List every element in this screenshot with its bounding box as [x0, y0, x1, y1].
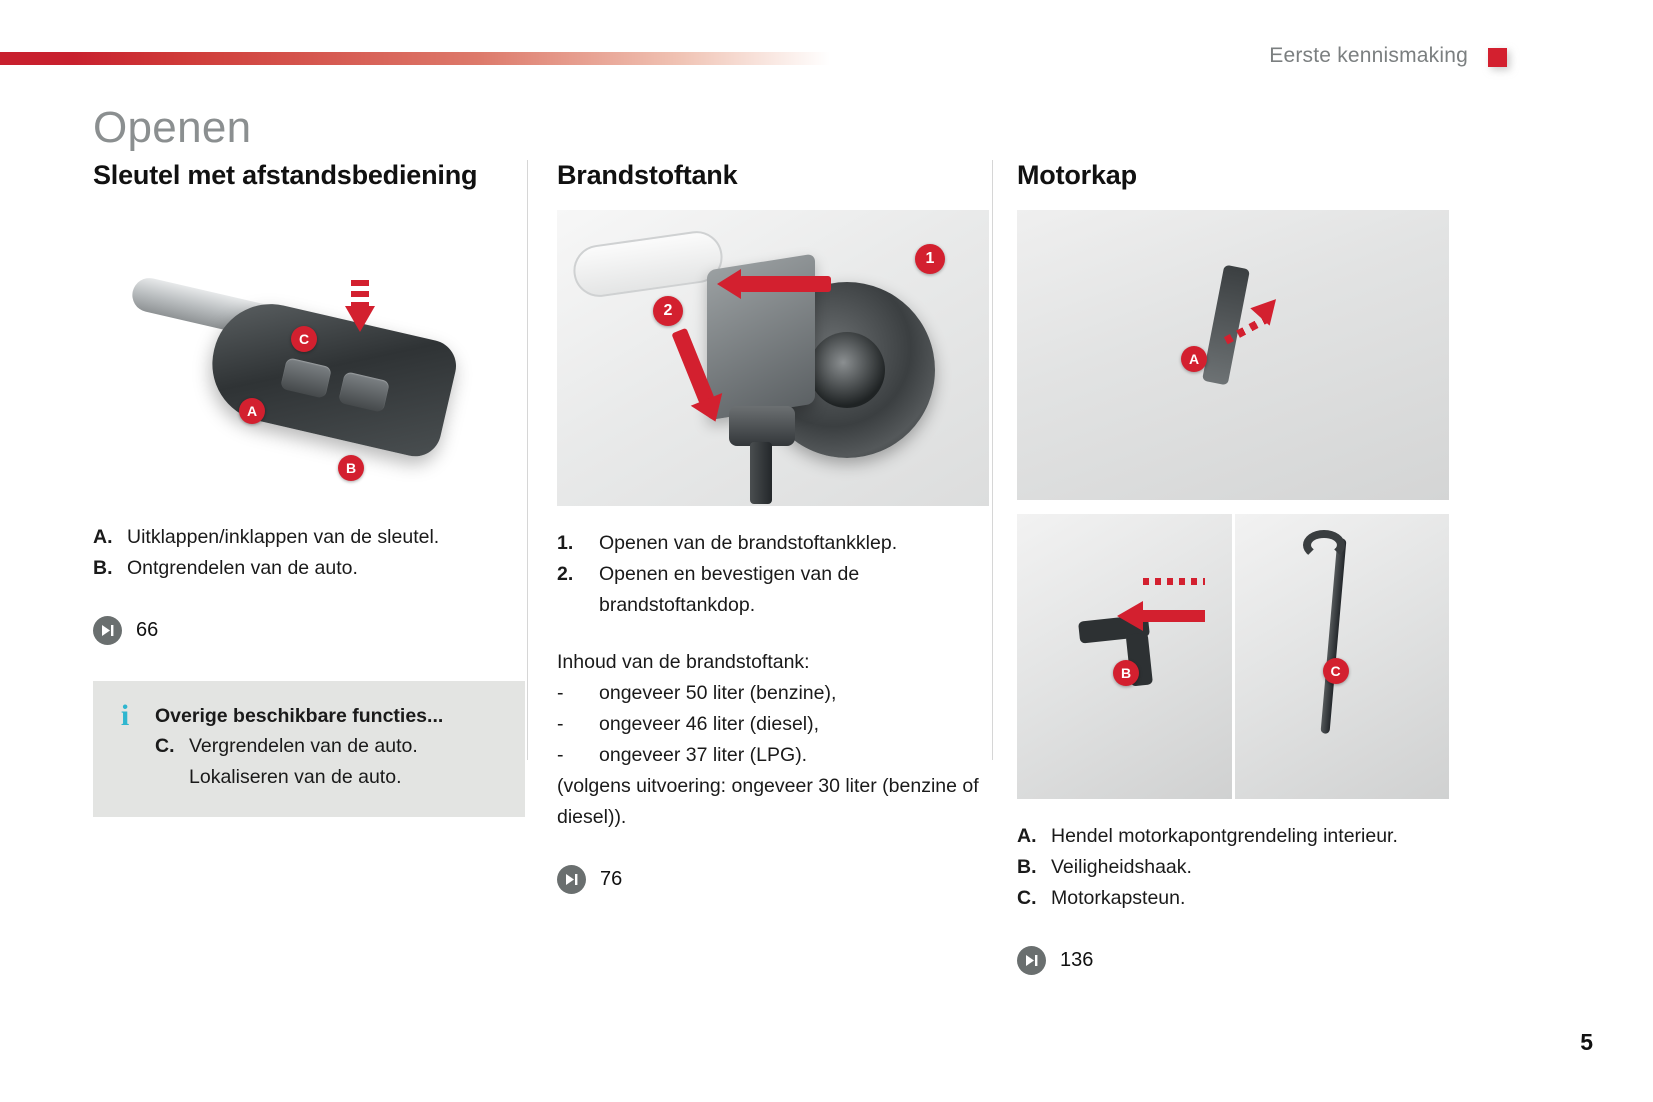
list-item: A. Uitklappen/inklappen van de sleutel. — [93, 522, 525, 553]
remote-key-illustration: A B C — [93, 210, 525, 500]
page-reference-number: 76 — [600, 868, 622, 891]
column-remote-key: Sleutel met afstandsbediening A B C A. U… — [93, 160, 525, 817]
info-box-item: C. Vergrendelen van de auto. — [155, 731, 503, 762]
list-item-text: Veiligheidshaak. — [1051, 852, 1449, 883]
callout-badge-a: A — [1181, 346, 1207, 372]
callout-badge-b: B — [1113, 660, 1139, 686]
info-icon: i — [115, 701, 135, 793]
callout-badge-1: 1 — [915, 244, 945, 274]
list-item-key: B. — [1017, 852, 1051, 883]
page-reference-icon — [93, 616, 122, 645]
list-item-key: 2. — [557, 559, 599, 590]
info-box-item: Lokaliseren van de auto. — [155, 762, 503, 793]
list-item: - ongeveer 50 liter (benzine), — [557, 678, 989, 709]
safety-catch-motion-dots — [1143, 578, 1205, 585]
list-item-text: Motorkapsteun. — [1051, 883, 1449, 914]
header-accent-rule — [0, 52, 830, 65]
info-box-other-functions: i Overige beschikbare functies... C. Ver… — [93, 681, 525, 817]
list-item-text: ongeveer 37 liter (LPG). — [599, 740, 989, 771]
column-divider-1 — [527, 160, 528, 760]
hood-stay-panel: C — [1235, 514, 1450, 799]
column-fuel-tank: Brandstoftank 1 2 1. Openen van de brand… — [557, 160, 989, 894]
list-item: - ongeveer 46 liter (diesel), — [557, 709, 989, 740]
info-box-body: Overige beschikbare functies... C. Vergr… — [155, 701, 503, 793]
callout-badge-2: 2 — [653, 296, 683, 326]
list-item-key: 1. — [557, 528, 599, 559]
fuel-arrow-1-icon — [739, 276, 831, 292]
hood-release-lever-shape — [1202, 265, 1250, 386]
fuel-filler-illustration: 1 2 — [557, 210, 989, 506]
page-reference-icon — [1017, 946, 1046, 975]
fuel-filler-opening-shape — [809, 332, 885, 408]
info-item-text: Lokaliseren van de auto. — [189, 762, 503, 793]
key-arrow-icon — [345, 306, 375, 332]
safety-catch-arrow-icon — [1143, 610, 1205, 622]
list-item-continuation: brandstoftankdop. — [557, 590, 989, 621]
hood-stay-rod-shape — [1320, 538, 1346, 734]
list-item-dash: - — [557, 740, 599, 771]
column-divider-2 — [992, 160, 993, 760]
list-item-dash: - — [557, 709, 599, 740]
page-title: Openen — [93, 103, 251, 153]
left-column-heading: Sleutel met afstandsbediening — [93, 160, 525, 191]
hood-stay-hook-shape — [1303, 530, 1345, 560]
info-item-key — [155, 762, 189, 793]
page-reference-icon — [557, 865, 586, 894]
list-item: B. Veiligheidshaak. — [1017, 852, 1449, 883]
info-item-key: C. — [155, 731, 189, 762]
page-reference-number: 66 — [136, 619, 158, 642]
page-reference-number: 136 — [1060, 949, 1093, 972]
key-body-shape — [201, 293, 461, 462]
page-reference-136[interactable]: 136 — [1017, 946, 1449, 975]
header-section-title: Eerste kennismaking — [1269, 44, 1468, 68]
header-red-marker — [1488, 48, 1507, 67]
list-item: A. Hendel motorkapontgrendeling interieu… — [1017, 821, 1449, 852]
fuel-capacity-list: - ongeveer 50 liter (benzine), - ongevee… — [557, 678, 989, 771]
info-item-text: Vergrendelen van de auto. — [189, 731, 503, 762]
hood-safety-catch-panel: B — [1017, 514, 1232, 799]
page-reference-76[interactable]: 76 — [557, 865, 989, 894]
callout-badge-c: C — [291, 326, 317, 352]
fuel-cap-tether-shape — [750, 442, 772, 504]
list-item-key: C. — [1017, 883, 1051, 914]
list-item-text: brandstoftankdop. — [599, 590, 989, 621]
list-item-text: Uitklappen/inklappen van de sleutel. — [127, 522, 525, 553]
right-column-list: A. Hendel motorkapontgrendeling interieu… — [1017, 821, 1449, 914]
middle-column-heading: Brandstoftank — [557, 160, 989, 191]
list-item-key: B. — [93, 553, 127, 584]
list-item-key: A. — [93, 522, 127, 553]
fuel-capacity-note: (volgens uitvoering: ongeveer 30 liter (… — [557, 771, 989, 833]
fuel-cap-shape — [729, 406, 795, 446]
callout-badge-b: B — [338, 455, 364, 481]
page-number: 5 — [1580, 1029, 1593, 1056]
list-item-text: Hendel motorkapontgrendeling interieur. — [1051, 821, 1449, 852]
fuel-capacity-intro: Inhoud van de brandstoftank: — [557, 647, 989, 678]
left-column-list: A. Uitklappen/inklappen van de sleutel. … — [93, 522, 525, 584]
hood-release-lever-illustration: A — [1017, 210, 1449, 500]
list-item: 2. Openen en bevestigen van de — [557, 559, 989, 590]
info-box-title: Overige beschikbare functies... — [155, 701, 503, 731]
list-item: C. Motorkapsteun. — [1017, 883, 1449, 914]
list-item-text: Ontgrendelen van de auto. — [127, 553, 525, 584]
list-item-text: ongeveer 46 liter (diesel), — [599, 709, 989, 740]
list-item-dash: - — [557, 678, 599, 709]
page-reference-66[interactable]: 66 — [93, 616, 525, 645]
callout-badge-a: A — [239, 398, 265, 424]
list-item: - ongeveer 37 liter (LPG). — [557, 740, 989, 771]
hood-safety-catch-and-stay-illustration: B C — [1017, 514, 1449, 799]
car-door-handle-shape — [570, 228, 726, 300]
column-hood: Motorkap A B C A. Hendel motorkapontgren… — [1017, 160, 1449, 975]
list-item-text: Openen en bevestigen van de — [599, 559, 989, 590]
list-item: 1. Openen van de brandstoftankklep. — [557, 528, 989, 559]
right-column-heading: Motorkap — [1017, 160, 1449, 191]
list-item-text: Openen van de brandstoftankklep. — [599, 528, 989, 559]
callout-badge-c: C — [1323, 658, 1349, 684]
list-item: B. Ontgrendelen van de auto. — [93, 553, 525, 584]
middle-column-list: 1. Openen van de brandstoftankklep. 2. O… — [557, 528, 989, 621]
list-item-key: A. — [1017, 821, 1051, 852]
list-item-key — [557, 590, 599, 621]
list-item-text: ongeveer 50 liter (benzine), — [599, 678, 989, 709]
